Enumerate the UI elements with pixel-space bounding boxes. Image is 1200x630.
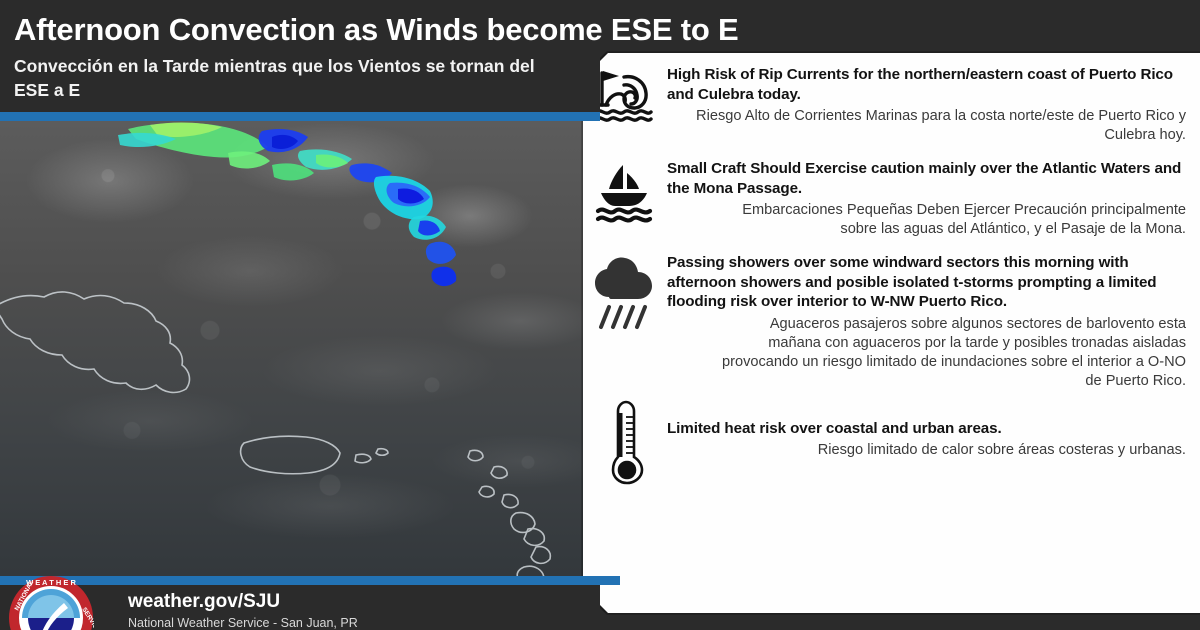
map-overlays xyxy=(0,121,600,576)
advisory-text-group: Small Craft Should Exercise caution main… xyxy=(667,159,1186,239)
advisory-small-craft: Small Craft Should Exercise caution main… xyxy=(591,159,1186,239)
nws-seal-icon: W E A T H E R NATIONAL SERVICE xyxy=(8,575,94,630)
advisory-text-es: Riesgo limitado de calor sobre áreas cos… xyxy=(667,441,1186,460)
satellite-map xyxy=(0,121,600,576)
weather-infographic: Afternoon Convection as Winds become ESE… xyxy=(0,0,1200,630)
thermometer-icon xyxy=(591,397,657,485)
advisory-text-es: Riesgo Alto de Corrientes Marinas para l… xyxy=(667,107,1186,145)
advisory-text-en: Passing showers over some windward secto… xyxy=(667,253,1186,312)
coastlines xyxy=(0,292,562,576)
sailboat-icon xyxy=(591,159,657,223)
header-accent-rule xyxy=(0,112,600,121)
footer-text-group: weather.gov/SJU National Weather Service… xyxy=(128,590,358,630)
rip-current-icon xyxy=(591,65,657,125)
advisory-text-en: Small Craft Should Exercise caution main… xyxy=(667,159,1186,198)
advisory-rip-currents: High Risk of Rip Currents for the northe… xyxy=(591,65,1186,145)
advisory-text-group: Passing showers over some windward secto… xyxy=(667,253,1186,391)
advisory-showers: Passing showers over some windward secto… xyxy=(591,253,1186,391)
site-url[interactable]: weather.gov/SJU xyxy=(128,590,358,613)
advisory-text-group: Limited heat risk over coastal and urban… xyxy=(667,397,1186,461)
advisory-text-en: Limited heat risk over coastal and urban… xyxy=(667,419,1186,439)
advisory-text-es: Aguaceros pasajeros sobre algunos sector… xyxy=(667,315,1186,391)
header-bar: Afternoon Convection as Winds become ESE… xyxy=(0,0,600,112)
rain-cloud-icon xyxy=(591,253,657,331)
advisory-heat-risk: Limited heat risk over coastal and urban… xyxy=(591,397,1186,485)
page-title: Afternoon Convection as Winds become ESE… xyxy=(14,12,600,48)
convection-returns xyxy=(118,123,456,287)
footer-bar: W E A T H E R NATIONAL SERVICE weather.g… xyxy=(0,585,600,630)
advisory-text-group: High Risk of Rip Currents for the northe… xyxy=(667,65,1186,145)
page-subtitle-spanish: Convección en la Tarde mientras que los … xyxy=(14,54,574,102)
office-name: National Weather Service - San Juan, PR xyxy=(128,615,358,630)
advisory-text-es: Embarcaciones Pequeñas Deben Ejercer Pre… xyxy=(667,201,1186,239)
advisory-text-en: High Risk of Rip Currents for the northe… xyxy=(667,65,1186,104)
advisory-panel: High Risk of Rip Currents for the northe… xyxy=(583,53,1200,613)
